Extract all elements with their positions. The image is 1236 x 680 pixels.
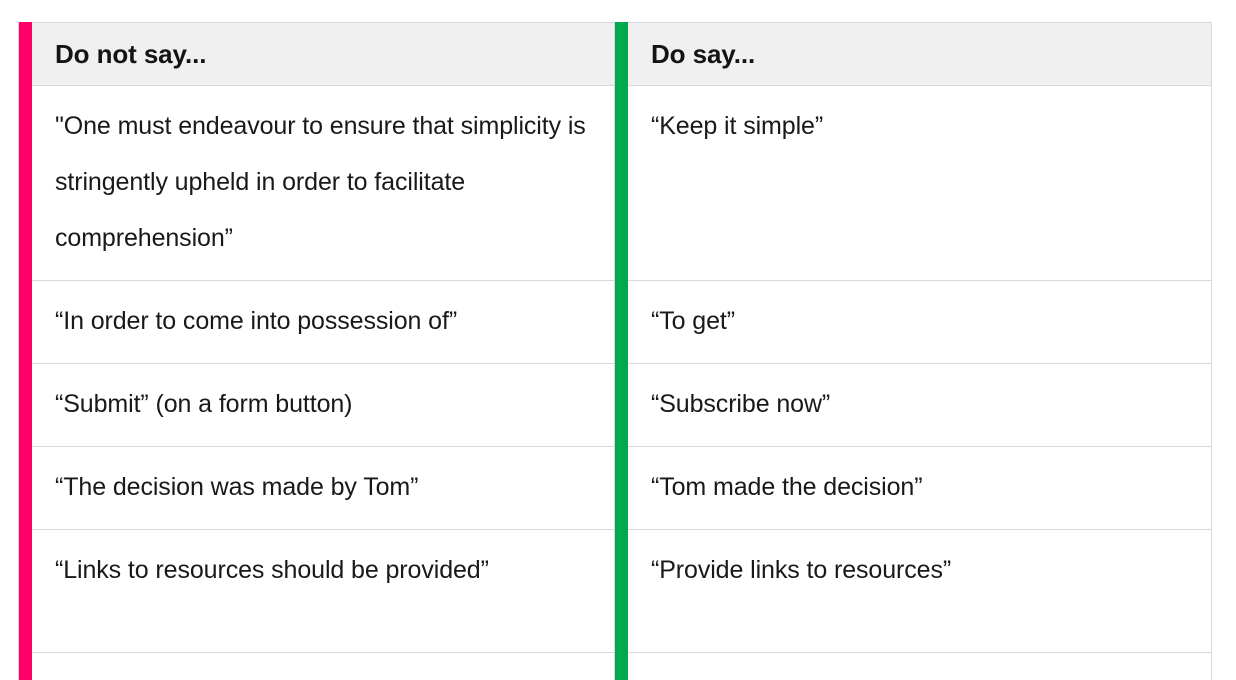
table-row: "One must endeavour to ensure that simpl… [18, 86, 1212, 281]
cell-text-do-say: “Provide links to resources” [651, 556, 951, 584]
cell-do-say: “for example”; “that is”; “and so on” [615, 653, 1212, 680]
green-accent-bar [615, 652, 628, 680]
table-header-row: Do not say... Do say... [18, 22, 1212, 86]
pink-accent-bar [19, 529, 32, 653]
cell-do-not-say: “Links to resources should be provided” [18, 530, 615, 653]
pink-accent-bar [19, 446, 32, 530]
do-not-say-vs-do-say-table: Do not say... Do say... [18, 22, 1212, 680]
pink-accent-bar [19, 22, 32, 86]
cell-do-not-say: "One must endeavour to ensure that simpl… [18, 86, 615, 281]
cell-text-do-say: “Keep it simple” [651, 112, 823, 140]
cell-do-say: “Tom made the decision” [615, 447, 1212, 530]
table-row: “Links to resources should be provided” … [18, 530, 1212, 653]
column-header-do-not-say: Do not say... [18, 22, 615, 86]
comparison-table-container: Do not say... Do say... [18, 22, 1212, 680]
cell-text-do-say: “To get” [651, 307, 735, 335]
cell-do-not-say: “e.g.”; “i.e.”; “etc.” [18, 653, 615, 680]
green-accent-bar [615, 529, 628, 653]
pink-accent-bar [19, 652, 32, 680]
pink-accent-bar [19, 280, 32, 364]
column-header-do-say: Do say... [615, 22, 1212, 86]
cell-do-say: “Keep it simple” [615, 86, 1212, 281]
table-row: “In order to come into possession of” “T… [18, 281, 1212, 364]
cell-do-not-say: “In order to come into possession of” [18, 281, 615, 364]
pink-accent-bar [19, 363, 32, 447]
green-accent-bar [615, 363, 628, 447]
table-row: “Submit” (on a form button) “Subscribe n… [18, 364, 1212, 447]
page-root: Do not say... Do say... [0, 0, 1236, 680]
cell-do-not-say: “Submit” (on a form button) [18, 364, 615, 447]
table-row: “The decision was made by Tom” “Tom made… [18, 447, 1212, 530]
cell-text-do-say: “Tom made the decision” [651, 473, 922, 501]
cell-text-do-not-say: “Links to resources should be provided” [55, 556, 489, 584]
green-accent-bar [615, 280, 628, 364]
cell-do-say: “Subscribe now” [615, 364, 1212, 447]
table-body: "One must endeavour to ensure that simpl… [18, 86, 1212, 680]
cell-text-do-not-say: "One must endeavour to ensure that simpl… [55, 112, 593, 252]
column-header-label-do-say: Do say... [651, 40, 755, 69]
cell-text-do-not-say: “The decision was made by Tom” [55, 473, 418, 501]
green-accent-bar [615, 22, 628, 86]
cell-text-do-not-say: “Submit” (on a form button) [55, 390, 352, 418]
green-accent-bar [615, 446, 628, 530]
pink-accent-bar [19, 85, 32, 281]
cell-do-say: “Provide links to resources” [615, 530, 1212, 653]
table-row: “e.g.”; “i.e.”; “etc.” “for example”; “t… [18, 653, 1212, 680]
column-header-label-do-not-say: Do not say... [55, 40, 206, 69]
green-accent-bar [615, 85, 628, 281]
cell-text-do-not-say: “In order to come into possession of” [55, 307, 457, 335]
table-header: Do not say... Do say... [18, 22, 1212, 86]
cell-text-do-say: “Subscribe now” [651, 390, 830, 418]
cell-do-not-say: “The decision was made by Tom” [18, 447, 615, 530]
cell-do-say: “To get” [615, 281, 1212, 364]
